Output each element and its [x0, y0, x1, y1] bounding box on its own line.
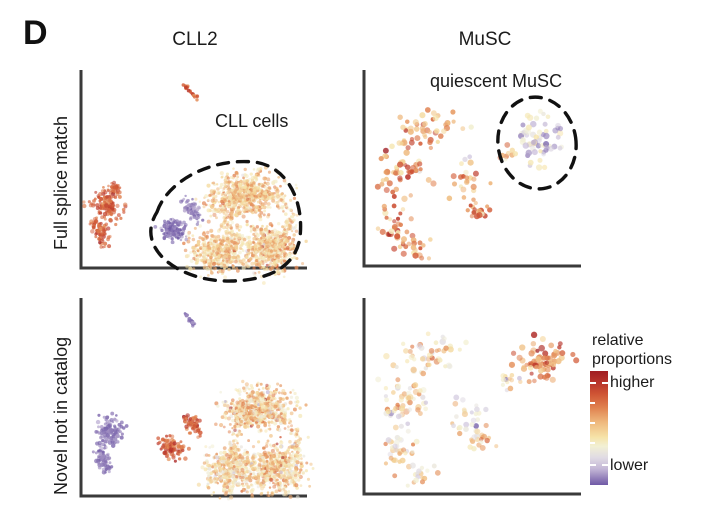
scatter-point — [213, 267, 217, 271]
scatter-point — [212, 213, 216, 217]
scatter-points-top-right — [375, 107, 564, 260]
scatter-point — [224, 195, 227, 198]
scatter-point — [271, 449, 275, 453]
scatter-point — [379, 156, 384, 161]
scatter-point — [241, 380, 244, 383]
scatter-point — [271, 233, 274, 236]
scatter-point — [294, 483, 298, 487]
scatter-point — [215, 469, 218, 472]
scatter-point — [264, 484, 266, 486]
scatter-point — [236, 389, 239, 392]
scatter-point — [249, 399, 253, 403]
scatter-point — [296, 404, 299, 407]
scatter-point — [236, 176, 239, 179]
scatter-point — [264, 181, 267, 184]
scatter-point — [204, 445, 207, 448]
scatter-point — [307, 478, 310, 481]
scatter-point — [108, 461, 111, 464]
scatter-point — [174, 460, 177, 463]
scatter-point — [227, 417, 231, 421]
scatter-point — [114, 426, 117, 429]
scatter-point — [420, 356, 426, 362]
scatter-point — [234, 445, 237, 448]
panel-letter: D — [23, 16, 48, 50]
scatter-point — [240, 412, 243, 415]
scatter-point — [233, 465, 236, 468]
scatter-point — [390, 190, 395, 195]
scatter-point — [231, 431, 234, 434]
scatter-point — [238, 251, 242, 255]
scatter-point — [171, 454, 175, 458]
scatter-point — [283, 228, 286, 231]
scatter-point — [289, 225, 292, 228]
column-title-musc: MuSC — [420, 30, 550, 49]
scatter-point — [517, 376, 522, 381]
scatter-point — [460, 397, 466, 403]
scatter-point — [453, 395, 459, 401]
scatter-point — [525, 113, 531, 119]
scatter-point — [234, 468, 238, 472]
scatter-point — [104, 460, 107, 463]
scatter-point — [153, 225, 157, 229]
scatter-point — [290, 215, 294, 219]
scatter-point — [93, 217, 97, 221]
scatter-point — [180, 239, 183, 242]
scatter-point — [419, 112, 425, 118]
scatter-point — [246, 392, 248, 394]
scatter-point — [285, 221, 289, 225]
scatter-point — [97, 230, 100, 233]
scatter-point — [376, 226, 381, 231]
scatter-point — [292, 226, 295, 229]
scatter-point — [438, 358, 443, 363]
scatter-point — [186, 254, 190, 258]
scatter-point — [282, 474, 285, 477]
scatter-point — [375, 376, 381, 382]
scatter-point — [94, 233, 97, 236]
scatter-point — [287, 236, 291, 240]
scatter-point — [418, 388, 423, 393]
scatter-point — [259, 199, 262, 202]
scatter-point — [201, 219, 204, 222]
scatter-point — [120, 436, 124, 440]
scatter-point — [104, 203, 109, 208]
scatter-point — [188, 237, 191, 240]
scatter-point — [250, 489, 254, 493]
scatter-point — [223, 482, 226, 485]
scatter-point — [232, 440, 235, 443]
scatter-point — [392, 194, 397, 199]
scatter-point — [99, 199, 102, 202]
scatter-point — [383, 148, 389, 154]
scatter-point — [207, 486, 211, 490]
scatter-point — [272, 245, 275, 248]
scatter-point — [218, 269, 222, 273]
scatter-point — [405, 119, 410, 124]
scatter-point — [235, 267, 238, 270]
scatter-point — [219, 186, 222, 189]
scatter-point — [528, 350, 534, 356]
scatter-point — [240, 193, 242, 195]
scatter-point — [216, 191, 220, 195]
scatter-point — [258, 175, 261, 178]
scatter-point — [412, 357, 416, 361]
scatter-point — [406, 145, 411, 150]
scatter-point — [505, 380, 509, 384]
scatter-point — [420, 479, 425, 484]
scatter-point — [244, 425, 248, 429]
scatter-point — [290, 454, 294, 458]
scatter-point — [212, 491, 215, 494]
scatter-point — [92, 450, 95, 453]
scatter-point — [270, 493, 273, 496]
scatter-point — [504, 142, 510, 148]
scatter-point — [254, 467, 256, 469]
scatter-point — [219, 391, 222, 394]
scatter-point — [242, 199, 244, 201]
scatter-point — [403, 348, 409, 354]
scatter-point — [274, 465, 277, 468]
scatter-point — [543, 122, 548, 127]
scatter-point — [298, 475, 301, 478]
legend-label-lower: lower — [610, 458, 648, 474]
scatter-point — [242, 484, 245, 487]
scatter-point — [271, 250, 273, 252]
legend-title-line2: proportions — [592, 351, 672, 368]
scatter-point — [531, 140, 536, 145]
scatter-point — [244, 466, 247, 469]
scatter-point — [226, 408, 229, 411]
scatter-point — [266, 479, 269, 482]
scatter-point — [120, 421, 124, 425]
scatter-point — [427, 362, 432, 367]
scatter-point — [259, 227, 263, 231]
scatter-point — [273, 185, 276, 188]
scatter-point — [266, 177, 270, 181]
scatter-point — [267, 234, 271, 238]
scatter-point — [459, 161, 464, 166]
scatter-point — [290, 424, 293, 427]
scatter-point — [210, 238, 213, 241]
scatter-point — [469, 422, 474, 427]
scatter-point — [544, 145, 549, 150]
scatter-point — [192, 267, 195, 270]
scatter-point — [214, 262, 217, 265]
scatter-point — [427, 140, 432, 145]
scatter-point — [393, 425, 399, 431]
scatter-point — [420, 476, 424, 480]
scatter-point — [399, 405, 405, 411]
scatter-point — [222, 401, 225, 404]
scatter-point — [462, 407, 467, 412]
scatter-point — [177, 450, 180, 453]
scatter-point — [528, 365, 534, 371]
scatter-point — [381, 178, 386, 183]
scatter-point — [244, 168, 247, 171]
scatter-point — [186, 421, 189, 424]
scatter-point — [100, 239, 105, 244]
scatter-point — [236, 194, 239, 197]
scatter-point — [287, 428, 290, 431]
scatter-point — [197, 483, 201, 487]
scatter-point — [179, 200, 183, 204]
scatter-point — [467, 154, 472, 159]
scatter-point — [279, 404, 283, 408]
scatter-point — [110, 188, 114, 192]
scatter-point — [509, 362, 515, 368]
scatter-point — [434, 340, 439, 345]
scatter-point — [98, 192, 102, 196]
scatter-point — [94, 191, 97, 194]
scatter-point — [266, 409, 270, 413]
scatter-point — [397, 162, 403, 168]
scatter-point — [276, 428, 279, 431]
scatter-point — [197, 256, 200, 259]
scatter-point — [262, 387, 265, 390]
scatter-point — [434, 128, 440, 134]
scatter-point — [231, 452, 233, 454]
scatter-point — [222, 487, 226, 491]
scatter-point — [235, 181, 238, 184]
scatter-point — [282, 419, 285, 422]
scatter-point — [187, 231, 191, 235]
scatter-point — [248, 388, 251, 391]
scatter-points-bottom-left — [92, 312, 315, 500]
scatter-point — [511, 351, 516, 356]
scatter-point — [239, 180, 242, 183]
scatter-point — [239, 459, 242, 462]
scatter-point — [256, 225, 259, 228]
scatter-point — [265, 384, 268, 387]
scatter-point — [551, 362, 556, 367]
scatter-point — [231, 398, 235, 402]
scatter-point — [215, 251, 219, 255]
scatter-point — [263, 416, 265, 418]
scatter-point — [494, 444, 498, 448]
scatter-point — [264, 228, 267, 231]
scatter-point — [245, 174, 249, 178]
scatter-point — [224, 416, 227, 419]
scatter-point — [401, 196, 407, 202]
scatter-point — [281, 456, 284, 459]
scatter-point — [229, 485, 232, 488]
scatter-point — [450, 109, 455, 114]
scatter-point — [287, 425, 290, 428]
scatter-point — [254, 176, 258, 180]
scatter-point — [231, 208, 235, 212]
scatter-point — [284, 493, 288, 497]
scatter-point — [297, 457, 301, 461]
scatter-point — [211, 493, 214, 496]
scatter-point — [270, 472, 273, 475]
scatter-point — [420, 126, 425, 131]
scatter-point — [231, 264, 234, 267]
scatter-point — [429, 146, 433, 150]
scatter-point — [532, 149, 538, 155]
scatter-point — [426, 177, 432, 183]
scatter-point — [222, 455, 226, 459]
scatter-point — [239, 476, 242, 479]
scatter-point — [229, 495, 233, 499]
scatter-point — [271, 242, 273, 244]
scatter-point — [206, 464, 209, 467]
scatter-point — [423, 406, 428, 411]
scatter-point — [222, 189, 225, 192]
scatter-point — [279, 397, 283, 401]
scatter-point — [473, 171, 479, 177]
scatter-point — [206, 267, 210, 271]
scatter-point — [510, 148, 515, 153]
scatter-point — [255, 397, 259, 401]
scatter-point — [289, 391, 292, 394]
scatter-point — [270, 467, 273, 470]
scatter-point — [573, 357, 579, 363]
scatter-point — [108, 210, 112, 214]
scatter-point — [182, 242, 185, 245]
scatter-point — [282, 468, 286, 472]
scatter-point — [236, 242, 239, 245]
scatter-point — [222, 236, 225, 239]
scatter-point — [245, 382, 249, 386]
scatter-point — [396, 383, 402, 389]
plot-top-left-cll2-full-splice-match — [72, 62, 317, 277]
scatter-point — [536, 164, 542, 170]
scatter-point — [232, 266, 236, 270]
scatter-point — [290, 411, 294, 415]
scatter-point — [401, 251, 407, 257]
scatter-point — [195, 98, 198, 101]
scatter-point — [263, 213, 266, 216]
scatter-point — [244, 186, 247, 189]
scatter-point — [247, 190, 251, 194]
scatter-point — [226, 464, 229, 467]
scatter-point — [261, 206, 263, 208]
colorbar-tick — [590, 422, 595, 424]
scatter-point — [293, 447, 297, 451]
scatter-point — [460, 187, 466, 193]
scatter-point — [435, 470, 441, 476]
scatter-point — [234, 425, 237, 428]
scatter-point — [407, 407, 412, 412]
scatter-point — [508, 377, 512, 381]
scatter-point — [267, 396, 271, 400]
scatter-point — [304, 240, 307, 243]
scatter-point — [239, 430, 242, 433]
scatter-point — [410, 137, 414, 141]
scatter-point — [101, 189, 105, 193]
scatter-point — [397, 451, 402, 456]
scatter-point — [232, 471, 235, 474]
scatter-point — [287, 228, 290, 231]
scatter-point — [293, 443, 295, 445]
scatter-point — [165, 235, 168, 238]
scatter-point — [287, 419, 290, 422]
scatter-point — [535, 365, 540, 370]
scatter-point — [218, 255, 221, 258]
scatter-point — [275, 231, 278, 234]
scatter-point — [225, 476, 228, 479]
scatter-point — [544, 375, 549, 380]
scatter-point — [517, 355, 523, 361]
scatter-point — [199, 276, 202, 279]
scatter-point — [267, 202, 271, 206]
scatter-point — [231, 182, 234, 185]
scatter-point — [296, 495, 300, 499]
scatter-point — [413, 119, 419, 125]
scatter-point — [213, 240, 216, 243]
scatter-point — [227, 185, 230, 188]
scatter-point — [545, 361, 550, 366]
scatter-point — [171, 232, 174, 235]
scatter-point — [267, 239, 270, 242]
scatter-point — [470, 410, 474, 414]
colorbar-tick — [590, 402, 595, 404]
scatter-point — [279, 461, 281, 463]
scatter-point — [288, 490, 290, 492]
scatter-point — [238, 184, 241, 187]
scatter-point — [184, 195, 186, 197]
scatter-point — [92, 199, 96, 203]
scatter-point — [267, 414, 270, 417]
scatter-point — [266, 465, 269, 468]
scatter-point — [111, 444, 115, 448]
scatter-point — [230, 213, 234, 217]
scatter-point — [255, 248, 257, 250]
scatter-point — [530, 372, 534, 376]
scatter-point — [403, 244, 408, 249]
scatter-point — [217, 247, 220, 250]
scatter-point — [268, 421, 270, 423]
scatter-point — [232, 485, 235, 488]
scatter-point — [542, 355, 547, 360]
scatter-point — [242, 215, 246, 219]
scatter-point — [259, 459, 263, 463]
scatter-point — [556, 135, 561, 140]
scatter-point — [252, 411, 256, 415]
scatter-point — [463, 340, 469, 346]
scatter-point — [288, 452, 291, 455]
scatter-point — [276, 409, 279, 412]
scatter-point — [257, 202, 259, 204]
scatter-point — [228, 200, 231, 203]
scatter-point — [411, 244, 416, 249]
scatter-point — [209, 215, 212, 218]
scatter-point — [99, 446, 103, 450]
scatter-point — [100, 431, 104, 435]
scatter-point — [265, 474, 268, 477]
scatter-point — [532, 379, 537, 384]
scatter-point — [249, 416, 252, 419]
scatter-point — [283, 259, 286, 262]
scatter-point — [104, 471, 107, 474]
scatter-point — [250, 483, 253, 486]
scatter-point — [300, 457, 303, 460]
scatter-point — [247, 420, 250, 423]
scatter-point — [115, 419, 118, 422]
scatter-point — [526, 124, 532, 130]
scatter-point — [537, 130, 542, 135]
scatter-point — [254, 251, 258, 255]
scatter-point — [221, 243, 224, 246]
scatter-point — [410, 170, 415, 175]
scatter-point — [162, 451, 166, 455]
scatter-point — [253, 416, 257, 420]
scatter-point — [305, 469, 308, 472]
scatter-point — [241, 402, 245, 406]
scatter-point — [192, 238, 196, 242]
scatter-point — [275, 270, 278, 273]
scatter-point — [218, 475, 221, 478]
